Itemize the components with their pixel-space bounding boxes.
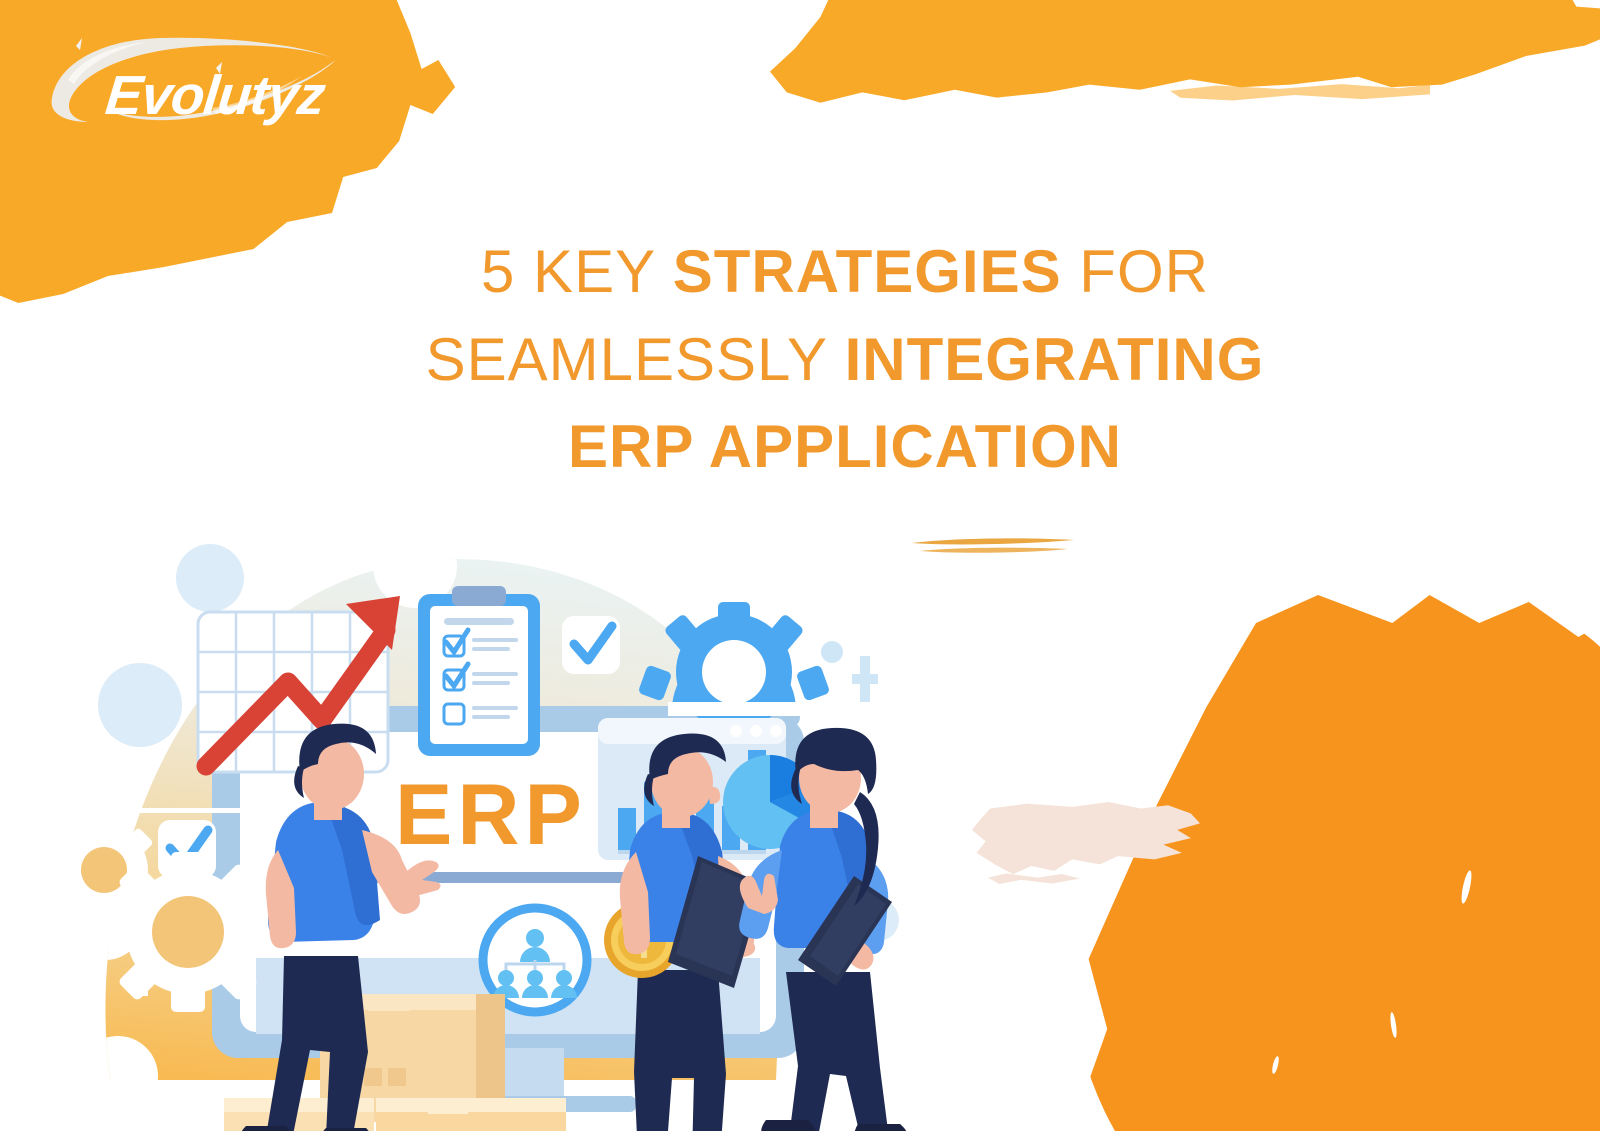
headline-line2-plain: SEAMLESSLY bbox=[426, 326, 845, 393]
headline-line3-bold: ERP APPLICATION bbox=[568, 413, 1122, 480]
decor-plus bbox=[852, 656, 878, 702]
erp-label: ERP bbox=[395, 772, 587, 858]
headline-line1-plain-b: FOR bbox=[1062, 238, 1209, 305]
clipboard-checklist-icon bbox=[418, 586, 540, 756]
gear-icon bbox=[108, 852, 268, 1012]
page-title: 5 KEY STRATEGIES FOR SEAMLESSLY INTEGRAT… bbox=[330, 228, 1360, 491]
headline-line1-bold: STRATEGIES bbox=[673, 238, 1062, 305]
decor-circle bbox=[176, 544, 244, 612]
decor-circle bbox=[98, 663, 182, 747]
beige-brush-wisp bbox=[988, 872, 1080, 886]
headline-line-2: SEAMLESSLY INTEGRATING bbox=[330, 316, 1360, 404]
brand-logo[interactable]: Evolutyz bbox=[40, 24, 340, 140]
decor-line bbox=[124, 808, 244, 813]
headline-line2-bold: INTEGRATING bbox=[845, 326, 1265, 393]
headline-underline-decoration bbox=[908, 534, 1078, 556]
decor-dot bbox=[821, 641, 843, 663]
check-square-icon bbox=[562, 616, 620, 674]
headline-line-3: ERP APPLICATION bbox=[330, 403, 1360, 491]
headline-line1-plain-a: 5 KEY bbox=[481, 238, 673, 305]
banner-canvas: Evolutyz 5 KEY STRATEGIES FOR SEAMLESSLY… bbox=[0, 0, 1600, 1131]
headline-line-1: 5 KEY STRATEGIES FOR bbox=[330, 228, 1360, 316]
brand-logo-text: Evolutyz bbox=[103, 68, 327, 123]
